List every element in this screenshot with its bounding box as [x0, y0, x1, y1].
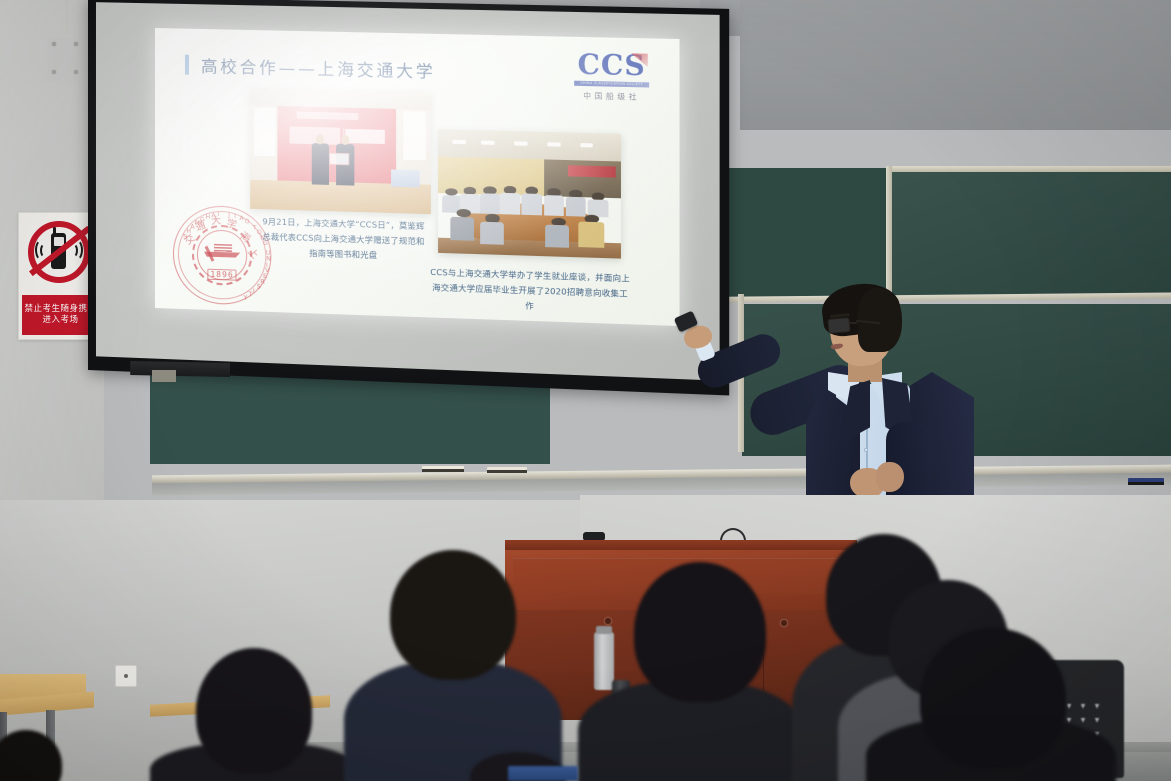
wall-outlet-white[interactable]	[115, 665, 137, 687]
caption-gift-presentation: 9月21日，上海交通大学“CCS日”，莫鉴辉总裁代表CCS向上海交通大学赠送了规…	[259, 214, 428, 265]
projected-slide: 高校合作——上海交通大学 CCS CHINA CLASSIFICATION SO…	[155, 28, 680, 326]
slide-title: 高校合作——上海交通大学	[201, 53, 436, 83]
title-accent-bar	[185, 55, 189, 75]
slide-title-row: 高校合作——上海交通大学	[185, 53, 436, 83]
lecture-hall-scene: 禁止考生随身携带 进入考场 高校合作——上海交通大学	[0, 0, 1171, 781]
ccs-logo-chinese: 中国船级社	[567, 90, 657, 103]
presenter-left-hand-gesture	[876, 462, 904, 492]
warning-line-2: 进入考场	[42, 315, 78, 326]
gift-presentation-photo	[250, 88, 431, 214]
notebook-blue[interactable]	[508, 766, 578, 781]
podium-cabinet-knob-2[interactable]	[781, 620, 787, 626]
projection-screen-bottom-bar	[130, 361, 230, 377]
student-head-4	[634, 562, 766, 702]
student-head-7	[920, 628, 1066, 768]
podium-cabinet-knob-1[interactable]	[605, 618, 611, 624]
sjtu-seal: 1896 大 学 通 交 海 上 S H A N G H A I J I A	[173, 205, 271, 306]
wall-behind-chalkboard	[740, 0, 1171, 130]
presenter-glasses-icon	[827, 317, 850, 334]
seal-institution-en: S H A N G H A I J I A O T O N G U N I V	[173, 205, 271, 306]
ccs-logo: CCS CHINA CLASSIFICATION SOCIETY 中国船级社	[567, 51, 657, 103]
projection-screen-bracket	[152, 370, 176, 382]
conference-meeting-photo	[438, 129, 621, 258]
thermos-bottle[interactable]	[594, 632, 614, 690]
chalkboard-eraser-2[interactable]	[487, 467, 527, 473]
caption-conference-meeting: CCS与上海交通大学举办了学生就业座谈，并面向上海交通大学应届毕业生开展了202…	[430, 265, 630, 318]
warning-line-1: 禁止考生随身携带	[24, 304, 96, 315]
chalkboard-eraser-blue[interactable]	[1128, 478, 1164, 485]
wall-mount-bracket	[48, 38, 82, 82]
ccs-logo-letters: CCS	[578, 51, 646, 80]
student-head-2	[196, 648, 312, 774]
chalkboard-frame-horizontal-top	[890, 166, 1171, 172]
chalkboard-eraser-1[interactable]	[422, 466, 464, 472]
student-head-3	[390, 550, 516, 680]
ceiling-cable	[66, 0, 68, 34]
